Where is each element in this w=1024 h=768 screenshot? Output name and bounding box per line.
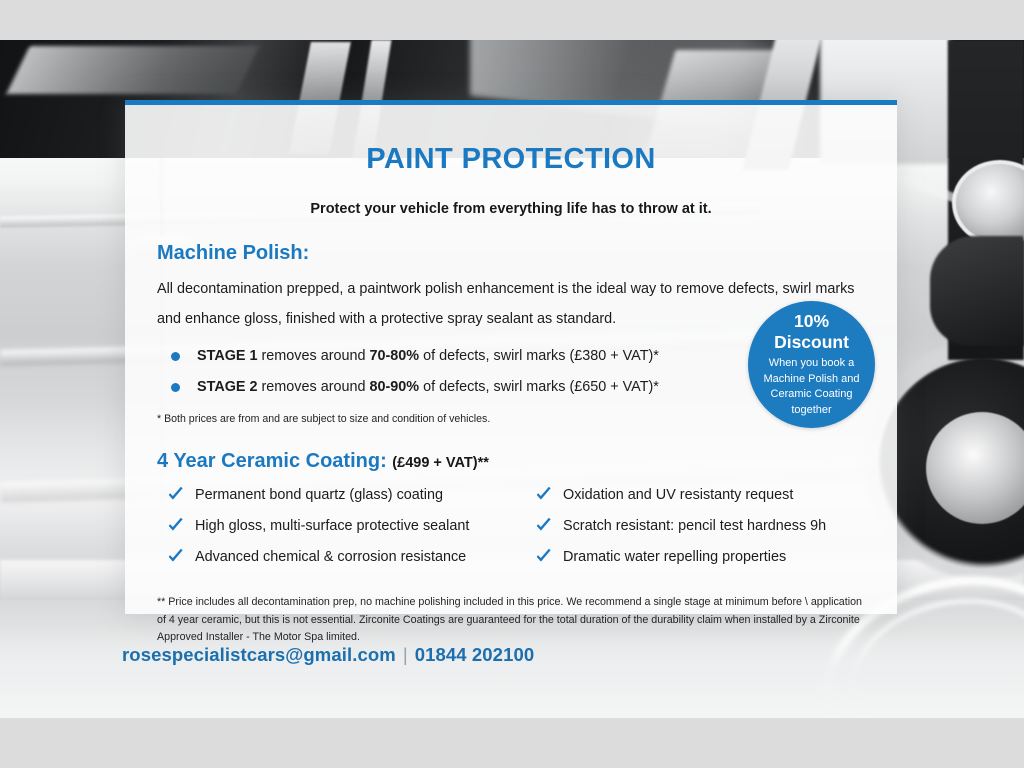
list-item: Advanced chemical & corrosion resistance <box>165 545 515 571</box>
stage-label: STAGE 2 <box>197 379 258 395</box>
car-bumper <box>930 236 1024 346</box>
check-icon <box>167 548 184 565</box>
stage-tail-text: of defects, swirl marks (£380 + VAT)* <box>419 348 659 364</box>
list-item: Oxidation and UV resistanty request <box>533 483 865 509</box>
ceramic-coating-price: (£499 + VAT)** <box>392 455 489 471</box>
bullet-dot-icon <box>171 352 180 361</box>
footer: rosespecialistcars@gmail.com|01844 20210… <box>0 636 1024 694</box>
machine-polish-heading: Machine Polish: <box>157 242 865 265</box>
contact-separator: | <box>396 644 415 665</box>
machine-polish-description: All decontamination prepped, a paintwork… <box>157 274 865 334</box>
stage-percent: 80-90% <box>370 379 420 395</box>
feature-label: Oxidation and UV resistanty request <box>563 487 793 503</box>
feature-label: Permanent bond quartz (glass) coating <box>195 487 443 503</box>
window-reflection-1 <box>6 46 259 94</box>
poster-stage: PAINT PROTECTION Protect your vehicle fr… <box>0 0 1024 768</box>
email-link[interactable]: rosespecialistcars@gmail.com <box>122 644 396 665</box>
page-subtitle: Protect your vehicle from everything lif… <box>157 201 865 217</box>
badge-subtext: When you book a Machine Polish and Ceram… <box>748 356 875 418</box>
feature-label: High gloss, multi-surface protective sea… <box>195 518 469 534</box>
stage-mid-text: removes around <box>258 348 370 364</box>
stage-tail-text: of defects, swirl marks (£650 + VAT)* <box>419 379 659 395</box>
stage-label: STAGE 1 <box>197 348 258 364</box>
discount-badge: 10% Discount When you book a Machine Pol… <box>748 301 875 428</box>
ceramic-feature-grid: Permanent bond quartz (glass) coating Hi… <box>157 483 865 576</box>
top-letterbox-bar <box>0 0 1024 40</box>
bullet-dot-icon <box>171 383 180 392</box>
feature-label: Advanced chemical & corrosion resistance <box>195 549 466 565</box>
list-item: High gloss, multi-surface protective sea… <box>165 514 515 540</box>
ceramic-coating-title: 4 Year Ceramic Coating: <box>157 450 387 472</box>
phone-link[interactable]: 01844 202100 <box>415 644 535 665</box>
ceramic-features-right: Oxidation and UV resistanty request Scra… <box>515 483 865 576</box>
ceramic-coating-heading: 4 Year Ceramic Coating: (£499 + VAT)** <box>157 450 865 473</box>
badge-percent: 10% <box>794 311 829 332</box>
bottom-letterbox-bar <box>0 718 1024 768</box>
check-icon <box>167 486 184 503</box>
list-item: Permanent bond quartz (glass) coating <box>165 483 515 509</box>
stage-mid-text: removes around <box>258 379 370 395</box>
ceramic-features-left: Permanent bond quartz (glass) coating Hi… <box>165 483 515 576</box>
badge-discount-label: Discount <box>774 332 849 353</box>
list-item: Dramatic water repelling properties <box>533 545 865 571</box>
stage-percent: 70-80% <box>370 348 420 364</box>
list-item: Scratch resistant: pencil test hardness … <box>533 514 865 540</box>
check-icon <box>535 486 552 503</box>
contact-line: rosespecialistcars@gmail.com|01844 20210… <box>122 644 534 666</box>
page-title: PAINT PROTECTION <box>157 143 865 176</box>
check-icon <box>535 548 552 565</box>
feature-label: Scratch resistant: pencil test hardness … <box>563 518 826 534</box>
check-icon <box>167 517 184 534</box>
check-icon <box>535 517 552 534</box>
feature-label: Dramatic water repelling properties <box>563 549 786 565</box>
